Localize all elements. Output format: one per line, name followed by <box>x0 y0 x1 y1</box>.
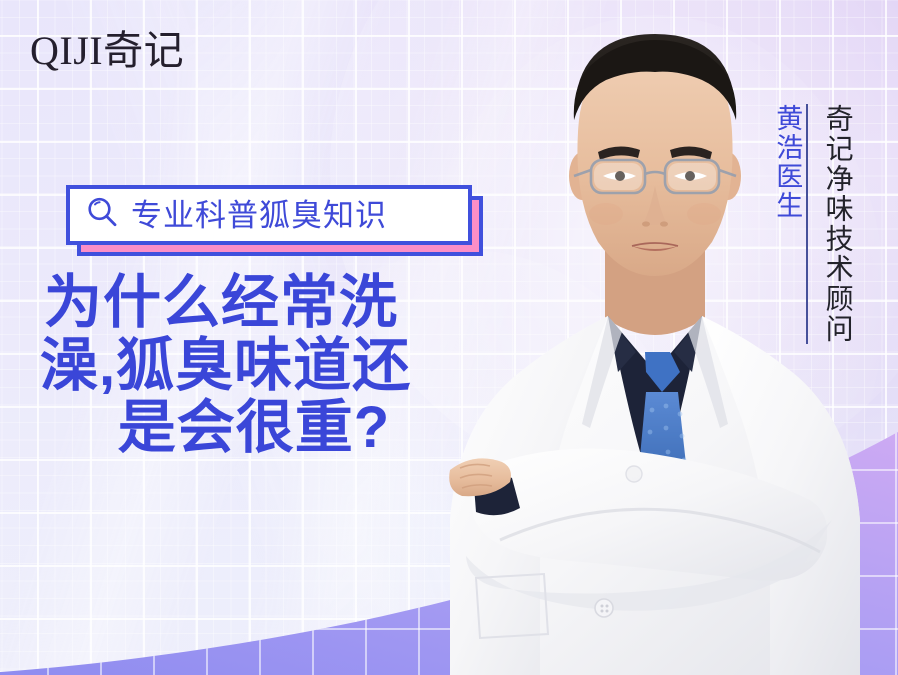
headline-line-2: 澡,狐臭味道还 <box>40 335 464 398</box>
poster-canvas: QIJI奇记 专业科普狐臭知识 为什么经常洗 澡,狐臭味道还 是会很重? 奇记净… <box>0 0 898 675</box>
headline-line-1: 为什么经常洗 <box>44 272 464 335</box>
headline-line-3: 是会很重? <box>44 397 464 460</box>
doctor-name-label: 黄浩医生 <box>772 104 806 220</box>
doctor-role-label: 奇记净味技术顾问 <box>806 104 853 344</box>
topic-badge-label: 专业科普狐臭知识 <box>131 200 387 231</box>
doctor-credit: 奇记净味技术顾问 黄浩医生 <box>772 104 854 344</box>
brand-logo: QIJI奇记 <box>30 31 184 71</box>
topic-badge: 专业科普狐臭知识 <box>66 185 472 245</box>
topic-badge-body: 专业科普狐臭知识 <box>66 185 472 245</box>
search-icon <box>86 196 119 234</box>
page-title: 为什么经常洗 澡,狐臭味道还 是会很重? <box>44 272 464 460</box>
